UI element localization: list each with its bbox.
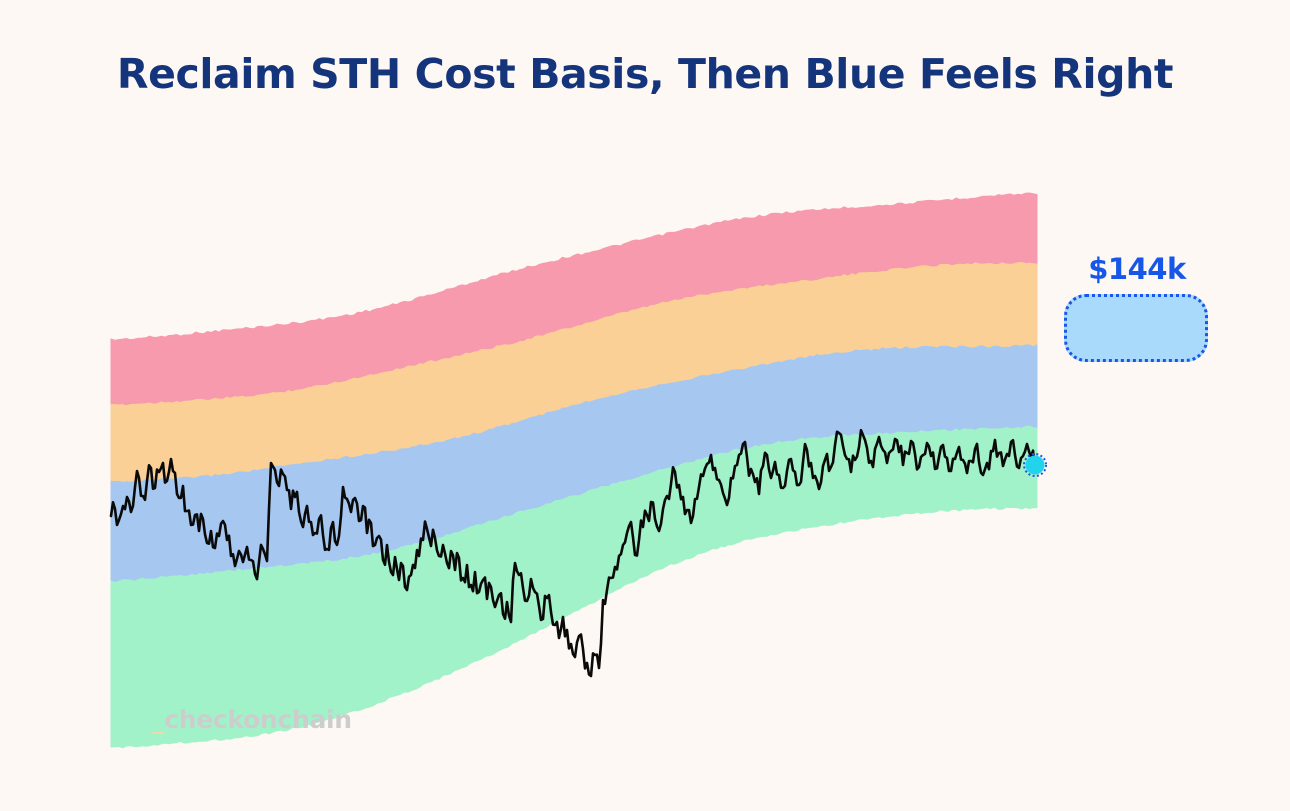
price-target-label: $144k <box>1064 252 1210 286</box>
chart-root: Reclaim STH Cost Basis, Then Blue Feels … <box>0 0 1290 811</box>
current-price-marker-dot <box>1026 456 1045 475</box>
valuation-bands-group <box>111 193 1037 748</box>
watermark: _checkonchain <box>152 705 352 734</box>
bitcoin-valuation-bands-chart <box>0 0 1290 811</box>
watermark-name: checkonchain <box>164 705 352 734</box>
target-zone-box <box>1064 294 1208 362</box>
watermark-underscore: _ <box>152 705 164 734</box>
